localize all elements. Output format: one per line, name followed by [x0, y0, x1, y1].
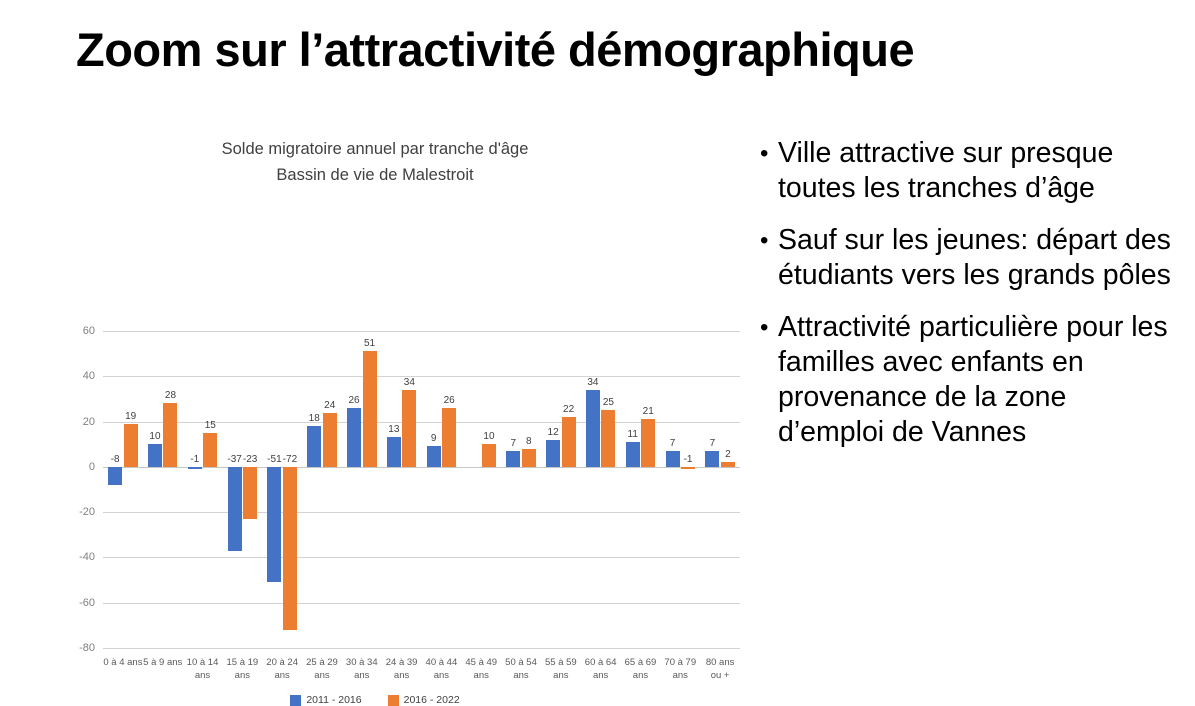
- bar-value-label: 26: [434, 395, 464, 406]
- bar: [307, 426, 321, 467]
- bar-group: 926: [422, 331, 462, 648]
- x-axis-tick-label: 0 à 4 ans: [103, 656, 143, 669]
- bar: [323, 413, 337, 467]
- bar: [267, 467, 281, 582]
- gridline: [103, 648, 740, 649]
- bullet-text: Sauf sur les jeunes: départ des étudiant…: [778, 223, 1180, 293]
- bar: [108, 467, 122, 485]
- bar: [626, 442, 640, 467]
- x-axis-tick-label: 70 à 79 ans: [660, 656, 700, 682]
- x-axis: 0 à 4 ans5 à 9 ans10 à 14 ans15 à 19 ans…: [103, 656, 740, 696]
- bar-value-label: 51: [355, 338, 385, 349]
- bar-value-label: 25: [593, 397, 623, 408]
- bar-group: 1028: [143, 331, 183, 648]
- x-axis-tick-label: 10 à 14 ans: [183, 656, 223, 682]
- bar: [506, 451, 520, 467]
- plot-area: -8191028-115-37-23-51-721824265113349261…: [103, 331, 740, 648]
- bar-value-label: 28: [155, 390, 185, 401]
- legend-swatch: [290, 695, 301, 706]
- bar: [482, 444, 496, 467]
- bar: [228, 467, 242, 551]
- x-axis-tick-label: 30 à 34 ans: [342, 656, 382, 682]
- bar: [283, 467, 297, 630]
- bar: [163, 403, 177, 466]
- x-axis-tick-label: 15 à 19 ans: [222, 656, 262, 682]
- bar-value-label: 7: [658, 438, 688, 449]
- legend-swatch: [388, 695, 399, 706]
- bar-group: 10: [461, 331, 501, 648]
- chart-container: Solde migratoire annuel par tranche d'âg…: [0, 128, 750, 598]
- chart-title: Solde migratoire annuel par tranche d'âg…: [0, 136, 750, 188]
- x-axis-tick-label: 65 à 69 ans: [621, 656, 661, 682]
- bar: [387, 437, 401, 466]
- bar-value-label: 22: [554, 404, 584, 415]
- chart-legend: 2011 - 20162016 - 2022: [0, 694, 750, 706]
- y-axis-tick-label: 0: [35, 461, 95, 473]
- bullet-item: •Sauf sur les jeunes: départ des étudian…: [760, 223, 1180, 293]
- x-axis-tick-label: 20 à 24 ans: [262, 656, 302, 682]
- legend-label: 2011 - 2016: [306, 694, 361, 706]
- bar-group: 1334: [382, 331, 422, 648]
- bar: [402, 390, 416, 467]
- bar-group: 2651: [342, 331, 382, 648]
- x-axis-tick-label: 55 à 59 ans: [541, 656, 581, 682]
- bar-group: 7-1: [660, 331, 700, 648]
- bullet-list: •Ville attractive sur presque toutes les…: [760, 136, 1180, 467]
- bar: [148, 444, 162, 467]
- bar-value-label: 34: [578, 377, 608, 388]
- bar: [188, 467, 202, 469]
- bullet-marker-icon: •: [760, 136, 778, 171]
- bar: [243, 467, 257, 519]
- bullet-item: •Attractivité particulière pour les fami…: [760, 310, 1180, 450]
- bar: [546, 440, 560, 467]
- bar-group: -819: [103, 331, 143, 648]
- bullet-marker-icon: •: [760, 223, 778, 258]
- x-axis-tick-label: 45 à 49 ans: [461, 656, 501, 682]
- bar: [562, 417, 576, 467]
- bar: [347, 408, 361, 467]
- bar: [124, 424, 138, 467]
- bar: [681, 467, 695, 469]
- bar: [442, 408, 456, 467]
- bar: [427, 446, 441, 466]
- bar-value-label: 21: [633, 406, 663, 417]
- y-axis-tick-label: 40: [35, 370, 95, 382]
- legend-label: 2016 - 2022: [404, 694, 460, 706]
- bar-group: -51-72: [262, 331, 302, 648]
- bar: [721, 462, 735, 467]
- x-axis-tick-label: 80 ans ou +: [700, 656, 740, 682]
- bar: [203, 433, 217, 467]
- y-axis-tick-label: 20: [35, 416, 95, 428]
- bullet-marker-icon: •: [760, 310, 778, 345]
- bullet-text: Attractivité particulière pour les famil…: [778, 310, 1180, 450]
- bar-group: 78: [501, 331, 541, 648]
- bar-group: -115: [183, 331, 223, 648]
- x-axis-tick-label: 25 à 29 ans: [302, 656, 342, 682]
- x-axis-tick-label: 5 à 9 ans: [143, 656, 183, 669]
- bar-group: 1824: [302, 331, 342, 648]
- bar-value-label: -1: [673, 454, 703, 465]
- y-axis-tick-label: -20: [35, 506, 95, 518]
- x-axis-tick-label: 50 à 54 ans: [501, 656, 541, 682]
- bar: [522, 449, 536, 467]
- y-axis-tick-label: -60: [35, 597, 95, 609]
- bar-group: 1121: [621, 331, 661, 648]
- x-axis-tick-label: 24 à 39 ans: [382, 656, 422, 682]
- legend-item[interactable]: 2016 - 2022: [388, 694, 460, 706]
- chart-title-line-2: Bassin de vie de Malestroit: [0, 162, 750, 188]
- bar-group: 3425: [581, 331, 621, 648]
- page-title: Zoom sur l’attractivité démographique: [76, 22, 1116, 78]
- x-axis-tick-label: 60 à 64 ans: [581, 656, 621, 682]
- bar: [641, 419, 655, 467]
- bar-value-label: 34: [394, 377, 424, 388]
- y-axis-tick-label: -80: [35, 642, 95, 654]
- bar-value-label: 2: [713, 449, 743, 460]
- bullet-item: •Ville attractive sur presque toutes les…: [760, 136, 1180, 206]
- y-axis-tick-label: 60: [35, 325, 95, 337]
- bar-group: 1222: [541, 331, 581, 648]
- bar-value-label: 15: [195, 420, 225, 431]
- bar-group: -37-23: [222, 331, 262, 648]
- y-axis: 6040200-20-40-60-80: [0, 331, 103, 648]
- bar-value-label: -72: [275, 454, 305, 465]
- bar: [363, 351, 377, 466]
- bar-value-label: 19: [116, 411, 146, 422]
- legend-item[interactable]: 2011 - 2016: [290, 694, 361, 706]
- x-axis-tick-label: 40 à 44 ans: [422, 656, 462, 682]
- bar-value-label: 7: [697, 438, 727, 449]
- bullet-text: Ville attractive sur presque toutes les …: [778, 136, 1180, 206]
- y-axis-tick-label: -40: [35, 551, 95, 563]
- bar: [601, 410, 615, 467]
- bar-group: 72: [700, 331, 740, 648]
- chart-title-line-1: Solde migratoire annuel par tranche d'âg…: [0, 136, 750, 162]
